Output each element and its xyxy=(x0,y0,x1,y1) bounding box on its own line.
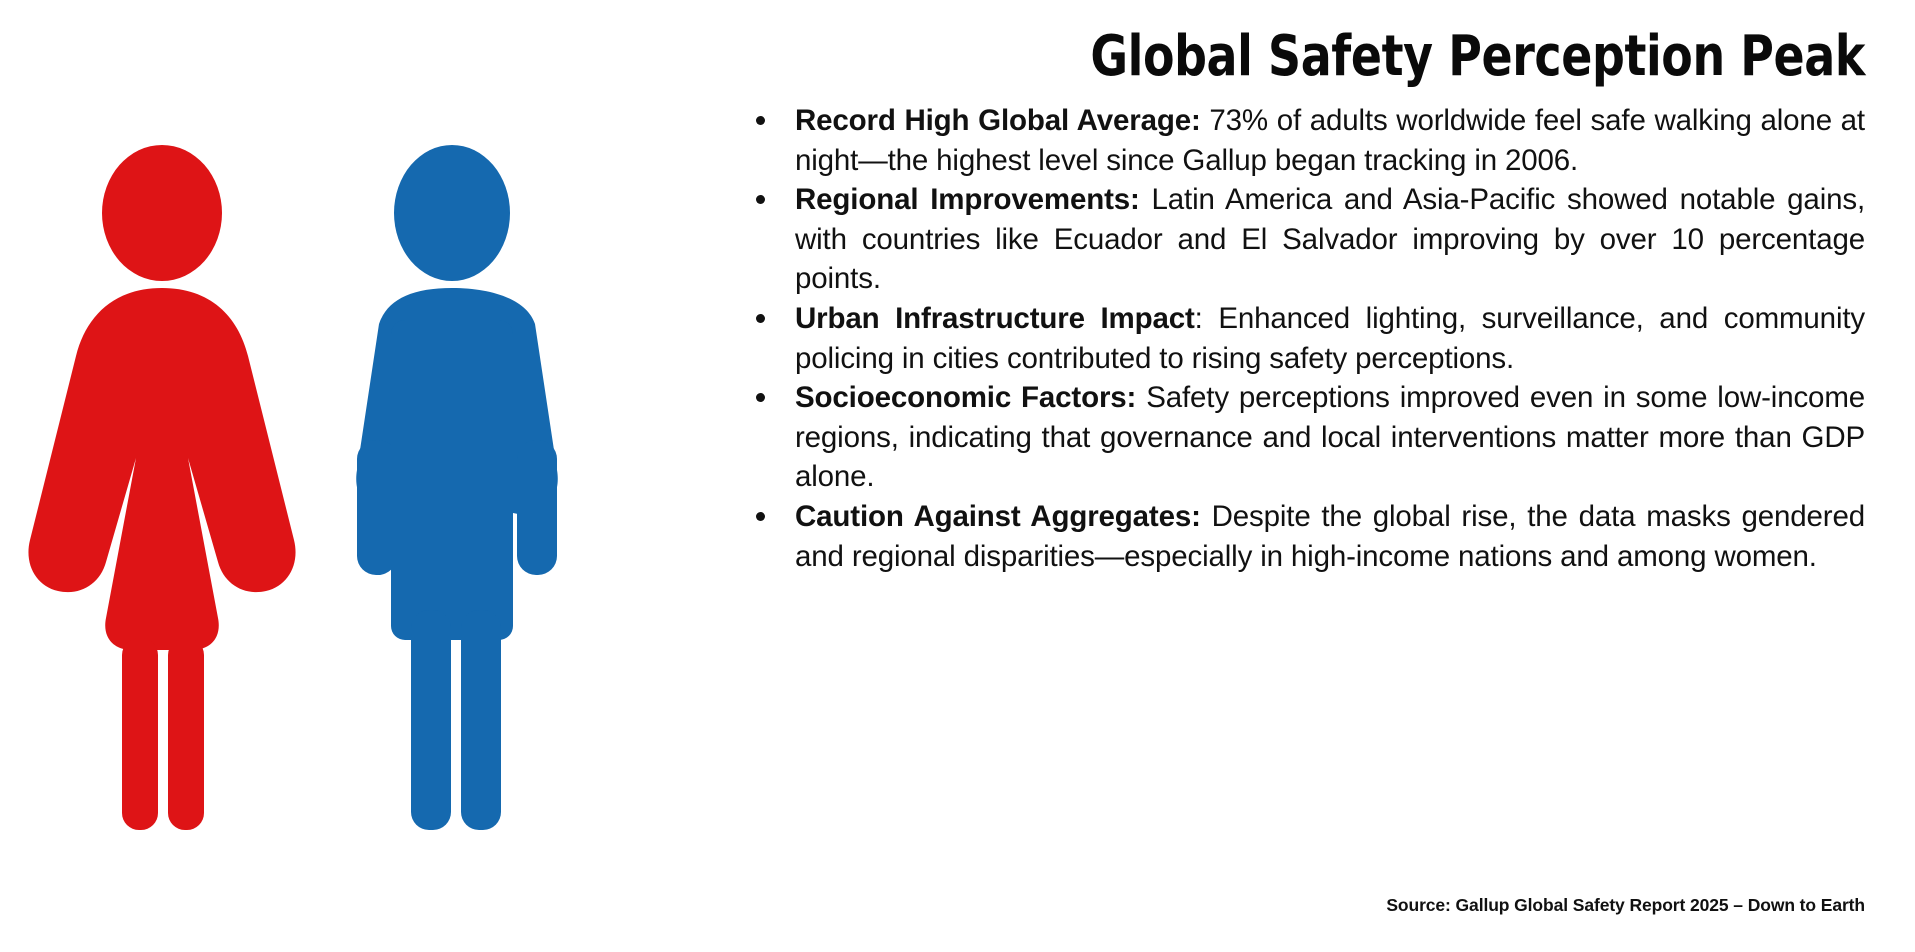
bullet-dot-icon xyxy=(756,116,765,125)
key-points-list: Record High Global Average: 73% of adult… xyxy=(745,101,1865,576)
female-pictogram xyxy=(10,140,330,830)
list-item: Socioeconomic Factors: Safety perception… xyxy=(745,378,1865,497)
page-title: Global Safety Perception Peak xyxy=(947,28,1865,87)
list-item-lead: Urban Infrastructure Impact xyxy=(795,302,1195,335)
bullet-dot-icon xyxy=(756,195,765,204)
list-item: Regional Improvements: Latin America and… xyxy=(745,180,1865,299)
content-column: Global Safety Perception Peak Record Hig… xyxy=(745,0,1870,952)
bullet-dot-icon xyxy=(756,512,765,521)
list-item-lead: Socioeconomic Factors: xyxy=(795,381,1136,414)
list-item: Urban Infrastructure Impact: Enhanced li… xyxy=(745,299,1865,378)
list-item-lead: Record High Global Average: xyxy=(795,104,1201,137)
list-item-lead: Regional Improvements: xyxy=(795,183,1140,216)
list-item: Caution Against Aggregates: Despite the … xyxy=(745,497,1865,576)
bullet-dot-icon xyxy=(756,314,765,323)
slide-root: Global Safety Perception Peak Record Hig… xyxy=(0,0,1915,952)
gender-pictogram-illustration xyxy=(0,140,620,830)
source-attribution: Source: Gallup Global Safety Report 2025… xyxy=(745,895,1865,916)
list-item: Record High Global Average: 73% of adult… xyxy=(745,101,1865,180)
list-item-lead: Caution Against Aggregates: xyxy=(795,500,1201,533)
male-pictogram xyxy=(345,140,560,830)
bullet-dot-icon xyxy=(756,393,765,402)
